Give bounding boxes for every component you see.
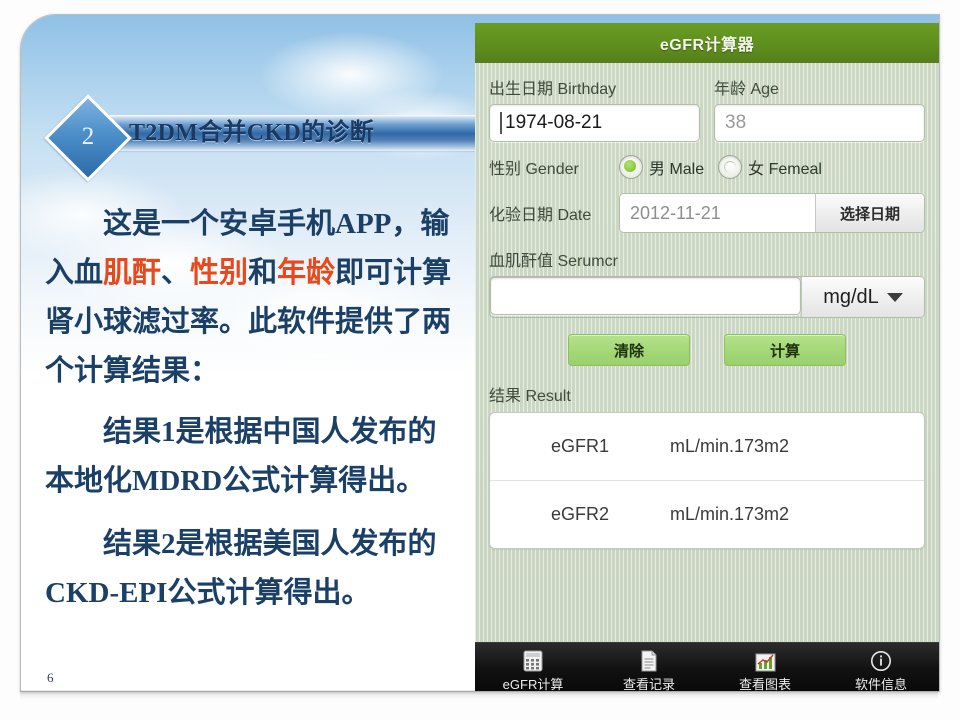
result-name: eGFR1 — [490, 436, 670, 457]
text-caret — [500, 112, 502, 134]
section-number-label: 2 — [57, 107, 119, 169]
gender-label: 性别 Gender — [489, 155, 619, 179]
test-date-row: 化验日期 Date 2012-11-21 选择日期 — [489, 193, 925, 233]
p1-highlight-creatinine: 肌酐 — [103, 257, 161, 289]
page-number: 6 — [47, 670, 54, 686]
birthday-input[interactable]: 1974-08-21 — [489, 104, 700, 142]
birthday-age-row: 出生日期 Birthday 1974-08-21 年龄 Age 38 — [489, 75, 925, 142]
android-app-screenshot: eGFR计算器 出生日期 Birthday 1974-08-21 年龄 Age … — [475, 23, 940, 692]
result-row: eGFR1 mL/min.173m2 — [490, 413, 924, 480]
age-field-group: 年龄 Age 38 — [714, 75, 925, 142]
birthday-label: 出生日期 Birthday — [489, 75, 700, 99]
action-button-row: 清除 计算 — [489, 334, 925, 366]
app-title: eGFR计算器 — [660, 31, 754, 55]
result-label: 结果 Result — [489, 382, 925, 406]
p1-highlight-age: 年龄 — [277, 257, 335, 289]
serumcr-combo: mg/dL — [489, 276, 925, 318]
p1-seg-d: 、 — [161, 257, 190, 289]
result-card: eGFR1 mL/min.173m2 eGFR2 mL/min.173m2 — [489, 412, 925, 549]
calculator-icon — [523, 650, 543, 672]
paragraph-3: 结果2是根据美国人发布的CKD-EPI公式计算得出。 — [45, 520, 457, 618]
bottom-tab-bar: eGFR计算 — [475, 642, 939, 692]
age-label: 年龄 Age — [714, 75, 925, 99]
birthday-field-group: 出生日期 Birthday 1974-08-21 — [489, 75, 700, 142]
radio-female[interactable] — [718, 155, 742, 179]
gender-row: 性别 Gender 男 Male 女 Femeal — [489, 155, 925, 179]
result-unit: mL/min.173m2 — [670, 504, 924, 525]
paragraph-1: 这是一个安卓手机APP，输入血肌酐、性别和年龄即可计算肾小球滤过率。此软件提供了… — [45, 200, 457, 396]
result-unit: mL/min.173m2 — [670, 436, 924, 457]
radio-female-label[interactable]: 女 Femeal — [748, 155, 822, 179]
pick-date-button[interactable]: 选择日期 — [815, 194, 924, 232]
paragraph-2: 结果1是根据中国人发布的本地化MDRD公式计算得出。 — [45, 408, 457, 506]
test-date-combo: 2012-11-21 选择日期 — [619, 193, 925, 233]
age-value: 38 — [725, 112, 746, 134]
test-date-label: 化验日期 Date — [489, 201, 619, 225]
p1-seg-e: 和 — [248, 257, 277, 289]
test-date-input[interactable]: 2012-11-21 — [620, 194, 815, 232]
p1-highlight-gender: 性别 — [190, 257, 248, 289]
app-title-bar: eGFR计算器 — [475, 23, 939, 63]
presentation-slide: 2 T2DM合并CKD的诊断 这是一个安卓手机APP，输入血肌酐、性别和年龄即可… — [20, 14, 940, 692]
slide-shadow — [20, 690, 938, 700]
birthday-value: 1974-08-21 — [505, 112, 602, 134]
radio-male-label[interactable]: 男 Male — [649, 155, 704, 179]
info-icon — [870, 650, 892, 672]
body-copy: 这是一个安卓手机APP，输入血肌酐、性别和年龄即可计算肾小球滤过率。此软件提供了… — [45, 200, 457, 632]
unit-value: mg/dL — [823, 286, 879, 309]
serumcr-group: 血肌酐值 Serumcr mg/dL — [489, 247, 925, 318]
result-name: eGFR2 — [490, 504, 670, 525]
clear-button[interactable]: 清除 — [568, 334, 690, 366]
p1-seg-a: 这是一个安卓手机 — [103, 208, 335, 240]
radio-male[interactable] — [619, 155, 643, 179]
calculate-button[interactable]: 计算 — [724, 334, 846, 366]
unit-dropdown[interactable]: mg/dL — [801, 277, 924, 317]
bar-chart-icon — [755, 650, 776, 672]
slide-root: 2 T2DM合并CKD的诊断 这是一个安卓手机APP，输入血肌酐、性别和年龄即可… — [0, 0, 960, 720]
chevron-down-icon — [887, 293, 903, 302]
age-input[interactable]: 38 — [714, 104, 925, 142]
serumcr-input[interactable] — [490, 277, 801, 315]
app-content: 出生日期 Birthday 1974-08-21 年龄 Age 38 性别 — [475, 63, 939, 643]
tab-app-info[interactable]: 软件信息 — [823, 650, 939, 693]
tab-egfr-calculate[interactable]: eGFR计算 — [475, 650, 591, 693]
result-row: eGFR2 mL/min.173m2 — [490, 480, 924, 548]
tab-view-records[interactable]: 查看记录 — [591, 650, 707, 693]
serumcr-label: 血肌酐值 Serumcr — [489, 247, 925, 271]
tab-view-chart[interactable]: 查看图表 — [707, 650, 823, 693]
document-icon — [640, 650, 658, 672]
p1-seg-app: APP — [335, 208, 391, 240]
